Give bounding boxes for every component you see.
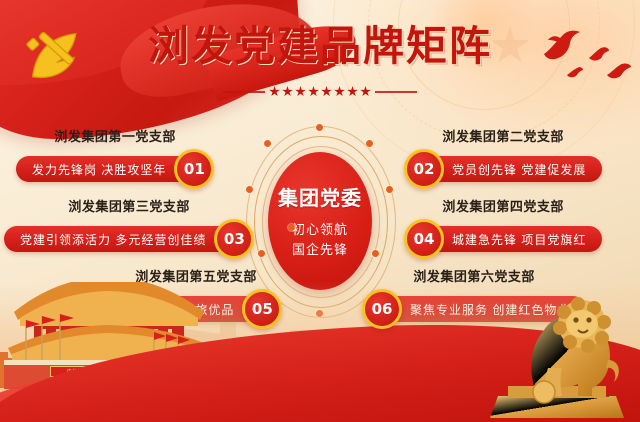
- star-strip: [269, 86, 371, 97]
- branch-slogan[interactable]: 城建急先锋 项目党旗红: [422, 226, 602, 252]
- star-icon: [269, 86, 280, 97]
- branch-number-badge[interactable]: 02: [404, 149, 444, 189]
- star-icon: [360, 86, 371, 97]
- wheel-node: [246, 186, 253, 193]
- branch-block-02[interactable]: 浏发集团第二党支部02党员创先锋 党建促发展: [404, 126, 602, 189]
- star-icon: [334, 86, 345, 97]
- center-core: 集团党委 初心领航 国企先锋: [268, 152, 372, 290]
- branch-row: 04城建急先锋 项目党旗红: [404, 219, 602, 259]
- divider-rule-right: [375, 91, 417, 93]
- branch-title: 浏发集团第四党支部: [404, 196, 602, 215]
- branch-slogan[interactable]: 党员创先锋 党建促发展: [422, 156, 602, 182]
- star-icon: [295, 86, 306, 97]
- branch-block-03[interactable]: 浏发集团第三党支部党建引领添活力 多元经营创佳绩03: [4, 196, 254, 259]
- dove-icon: [566, 66, 584, 78]
- branch-title: 浏发集团第三党支部: [4, 196, 254, 215]
- divider-rule-left: [223, 91, 265, 93]
- star-icon: [308, 86, 319, 97]
- branch-number-badge[interactable]: 06: [362, 289, 402, 329]
- branch-row: 党建引领添活力 多元经营创佳绩03: [4, 219, 254, 259]
- wheel-node: [366, 140, 373, 147]
- branch-number-badge[interactable]: 03: [214, 219, 254, 259]
- wheel-node: [386, 186, 393, 193]
- wheel-node: [372, 250, 379, 257]
- branch-number-badge[interactable]: 01: [174, 149, 214, 189]
- poster-title-wrap: 浏发党建品牌矩阵: [0, 26, 640, 67]
- center-core-slogan-1: 初心领航: [292, 220, 348, 240]
- wheel-node: [288, 224, 295, 231]
- branch-number-badge[interactable]: 04: [404, 219, 444, 259]
- branch-row: 02党员创先锋 党建促发展: [404, 149, 602, 189]
- wheel-node: [264, 140, 271, 147]
- wheel-node: [258, 250, 265, 257]
- poster-canvas: 浏发党建品牌矩阵 集团党委 初心领航 国企先锋 浏发集团第一党支部发力先锋岗 决…: [0, 0, 640, 422]
- guardian-lion-icon: [482, 282, 632, 418]
- branch-title: 浏发集团第二党支部: [404, 126, 602, 145]
- star-icon: [282, 86, 293, 97]
- center-core-title: 集团党委: [278, 182, 362, 211]
- branch-title: 浏发集团第一党支部: [16, 126, 214, 145]
- branch-slogan[interactable]: 党建引领添活力 多元经营创佳绩: [4, 226, 236, 252]
- branch-block-01[interactable]: 浏发集团第一党支部发力先锋岗 决胜攻坚年01: [16, 126, 214, 189]
- scenery: 中华人民共和国 世界人民大团结: [0, 282, 640, 422]
- star-icon: [347, 86, 358, 97]
- branch-block-04[interactable]: 浏发集团第四党支部04城建急先锋 项目党旗红: [404, 196, 602, 259]
- star-icon: [321, 86, 332, 97]
- poster-title: 浏发党建品牌矩阵: [148, 26, 492, 67]
- title-star-divider: [0, 86, 640, 97]
- branch-row: 发力先锋岗 决胜攻坚年01: [16, 149, 214, 189]
- branch-slogan[interactable]: 发力先锋岗 决胜攻坚年: [16, 156, 196, 182]
- center-core-slogan-2: 国企先锋: [292, 240, 348, 260]
- wheel-node: [316, 124, 323, 131]
